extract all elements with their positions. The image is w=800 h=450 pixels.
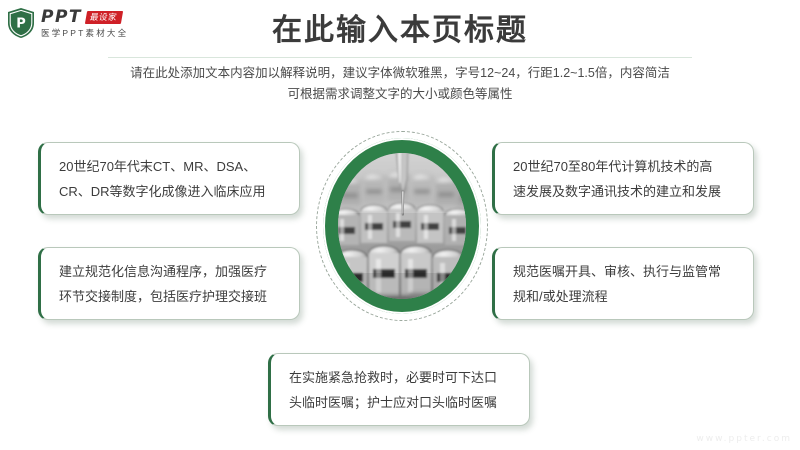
content-line: 规和/或处理流程 [513, 284, 737, 309]
content-line: 20世纪70至80年代计算机技术的高 [513, 154, 737, 179]
content-box-text: 规范医嘱开具、审核、执行与监管常 规和/或处理流程 [495, 259, 753, 309]
content-box-middle-left[interactable]: 建立规范化信息沟通程序，加强医疗 环节交接制度，包括医疗护理交接班 [38, 247, 300, 320]
content-box-text: 建立规范化信息沟通程序，加强医疗 环节交接制度，包括医疗护理交接班 [41, 259, 299, 309]
content-box-bottom-center[interactable]: 在实施紧急抢救时，必要时可下达口 头临时医嘱；护士应对口头临时医嘱 [268, 353, 530, 426]
content-line: 在实施紧急抢救时，必要时可下达口 [289, 365, 513, 390]
content-line: 环节交接制度，包括医疗护理交接班 [59, 284, 283, 309]
green-ring-frame [323, 138, 481, 314]
content-line: 建立规范化信息沟通程序，加强医疗 [59, 259, 283, 284]
page-subtitle: 请在此处添加文本内容加以解释说明，建议字体微软雅黑，字号12~24，行距1.2~… [0, 63, 800, 105]
content-line: 20世纪70年代末CT、MR、DSA、 [59, 154, 283, 179]
content-line: 头临时医嘱；护士应对口头临时医嘱 [289, 390, 513, 415]
content-box-middle-right[interactable]: 规范医嘱开具、审核、执行与监管常 规和/或处理流程 [492, 247, 754, 320]
page-subtitle-line-1: 请在此处添加文本内容加以解释说明，建议字体微软雅黑，字号12~24，行距1.2~… [0, 63, 800, 84]
page-title: 在此输入本页标题 [0, 12, 800, 50]
page-subtitle-line-2: 可根据需求调整文字的大小或颜色等属性 [0, 84, 800, 105]
site-watermark: www.ppter.com [696, 434, 792, 444]
center-figure [316, 131, 488, 321]
content-line: CR、DR等数字化成像进入临床应用 [59, 179, 283, 204]
content-box-top-right[interactable]: 20世纪70至80年代计算机技术的高 速发展及数字通讯技术的建立和发展 [492, 142, 754, 215]
content-box-text: 在实施紧急抢救时，必要时可下达口 头临时医嘱；护士应对口头临时医嘱 [271, 365, 529, 415]
content-box-text: 20世纪70至80年代计算机技术的高 速发展及数字通讯技术的建立和发展 [495, 154, 753, 204]
content-box-text: 20世纪70年代末CT、MR、DSA、 CR、DR等数字化成像进入临床应用 [41, 154, 299, 204]
test-tubes-photo [338, 153, 466, 299]
content-line: 速发展及数字通讯技术的建立和发展 [513, 179, 737, 204]
content-box-top-left[interactable]: 20世纪70年代末CT、MR、DSA、 CR、DR等数字化成像进入临床应用 [38, 142, 300, 215]
title-divider [108, 57, 692, 58]
content-line: 规范医嘱开具、审核、执行与监管常 [513, 259, 737, 284]
